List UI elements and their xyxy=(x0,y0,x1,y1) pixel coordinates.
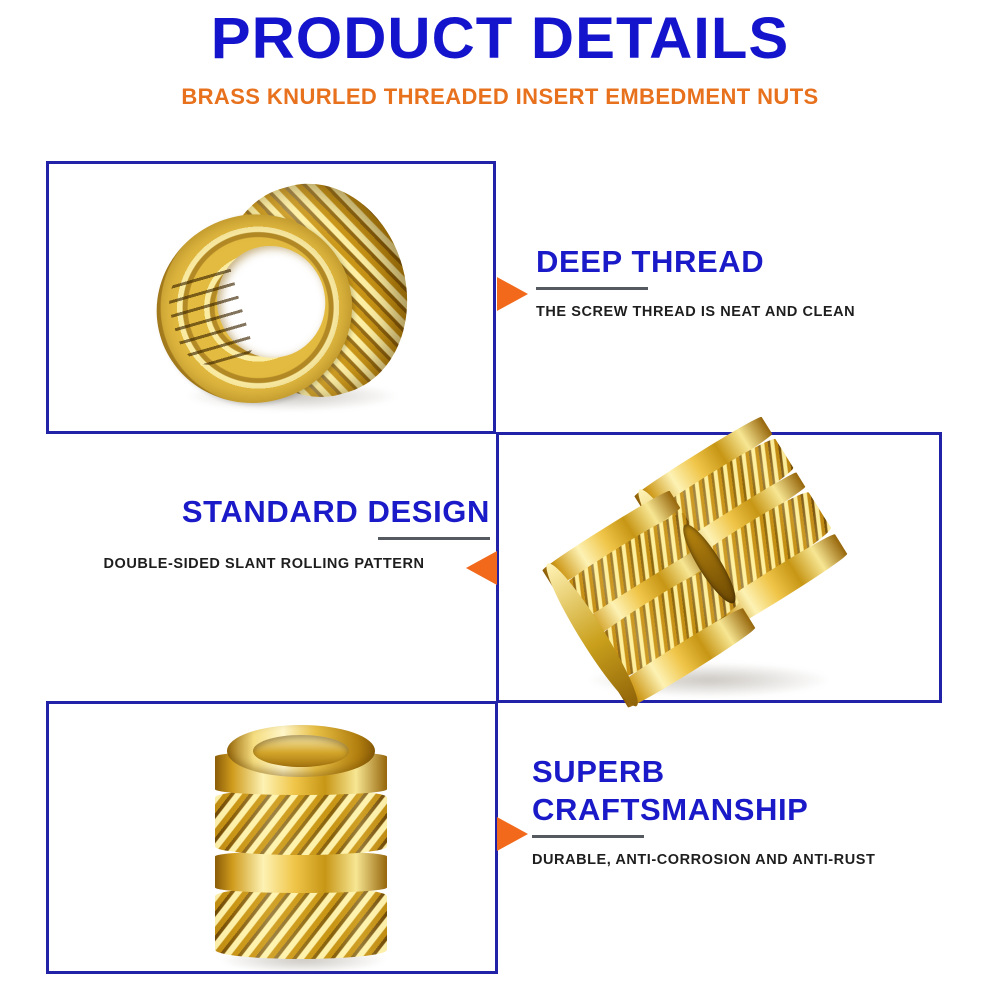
nut-band-knurled-lower xyxy=(215,887,387,959)
feature-text-deep-thread: DEEP THREAD THE SCREW THREAD IS NEAT AND… xyxy=(536,243,956,322)
brass-insert-nut-image-3 xyxy=(203,725,399,965)
feature-caption-deep-thread: THE SCREW THREAD IS NEAT AND CLEAN xyxy=(536,302,956,322)
feature-divider-3 xyxy=(532,835,644,838)
page-subtitle: BRASS KNURLED THREADED INSERT EMBEDMENT … xyxy=(0,84,1000,110)
feature-caption-superb-craftsmanship: DURABLE, ANTI-CORROSION AND ANTI-RUST xyxy=(532,850,962,870)
feature-text-standard-design: STANDARD DESIGN DOUBLE-SIDED SLANT ROLLI… xyxy=(40,493,490,574)
nut-band-smooth-middle xyxy=(215,851,387,893)
feature-divider-2 xyxy=(378,537,490,540)
feature-divider-1 xyxy=(536,287,648,290)
feature-panel-standard-design xyxy=(496,432,942,703)
feature-panel-deep-thread xyxy=(46,161,496,434)
brass-insert-nut-image-1 xyxy=(109,185,439,417)
feature-heading-superb-craftsmanship: SUPERB CRAFTSMANSHIP xyxy=(532,753,962,829)
page-title: PRODUCT DETAILS xyxy=(0,8,1000,70)
arrow-right-icon-1 xyxy=(497,277,528,311)
infographic-stage: PRODUCT DETAILS BRASS KNURLED THREADED I… xyxy=(0,0,1000,1000)
feature-heading-deep-thread: DEEP THREAD xyxy=(536,243,956,281)
arrow-right-icon-3 xyxy=(497,817,528,851)
feature-heading-standard-design: STANDARD DESIGN xyxy=(40,493,490,531)
feature-panel-superb-craftsmanship xyxy=(46,701,498,974)
nut-top-bore xyxy=(253,735,349,767)
feature-caption-standard-design: DOUBLE-SIDED SLANT ROLLING PATTERN xyxy=(40,554,490,574)
nut-band-knurled-upper xyxy=(215,789,387,855)
feature-text-superb-craftsmanship: SUPERB CRAFTSMANSHIP DURABLE, ANTI-CORRO… xyxy=(532,753,962,870)
brass-insert-nut-image-2 xyxy=(563,437,863,705)
